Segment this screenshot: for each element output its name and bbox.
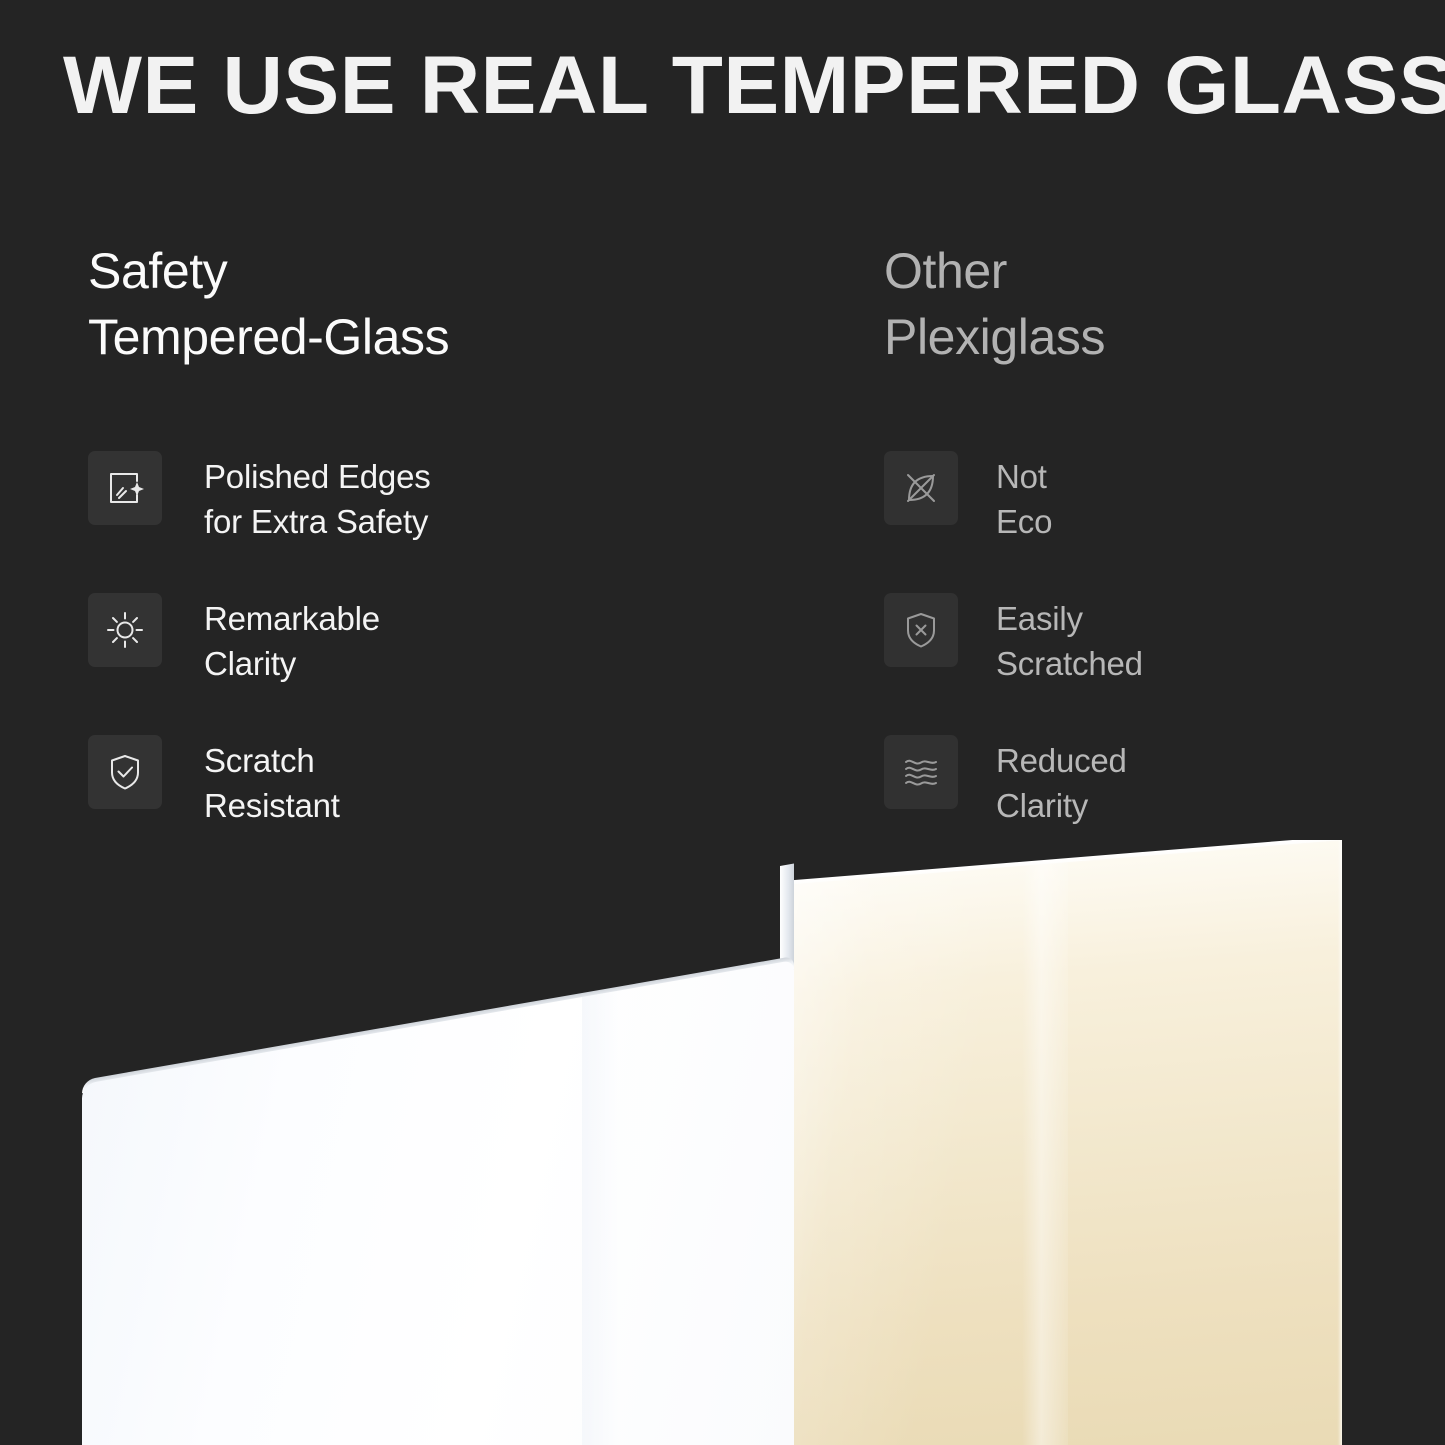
column-title: Safety Tempered-Glass <box>88 238 828 370</box>
plexiglass-panel <box>790 840 1342 1445</box>
feature-row: Remarkable Clarity <box>88 590 828 732</box>
feature-list: Not Eco Easily Scratched <box>884 448 1414 874</box>
feature-row: Polished Edges for Extra Safety <box>88 448 828 590</box>
shield-x-icon <box>884 593 958 667</box>
comparison-infographic: WE USE REAL TEMPERED GLASS Safety Temper… <box>0 0 1445 1445</box>
feature-label: Reduced Clarity <box>996 732 1127 828</box>
column-title: Other Plexiglass <box>884 238 1414 370</box>
feature-list: Polished Edges for Extra Safety Remarkab… <box>88 448 828 874</box>
page-title: WE USE REAL TEMPERED GLASS <box>63 40 1420 132</box>
feature-label: Not Eco <box>996 448 1052 544</box>
product-photo <box>0 840 1445 1445</box>
feature-label: Remarkable Clarity <box>204 590 380 686</box>
column-other-plexiglass: Other Plexiglass Not Eco <box>884 238 1414 370</box>
shield-check-icon <box>88 735 162 809</box>
leaf-crossed-out-icon <box>884 451 958 525</box>
column-safety-tempered-glass: Safety Tempered-Glass Polished Edges for… <box>88 238 828 370</box>
feature-row: Easily Scratched <box>884 590 1414 732</box>
feature-row: Not Eco <box>884 448 1414 590</box>
feature-label: Polished Edges for Extra Safety <box>204 448 431 544</box>
wavy-lines-icon <box>884 735 958 809</box>
feature-label: Easily Scratched <box>996 590 1143 686</box>
polished-glass-panel-icon <box>88 451 162 525</box>
tempered-glass-panel <box>82 960 794 1445</box>
sun-brightness-icon <box>88 593 162 667</box>
feature-label: Scratch Resistant <box>204 732 340 828</box>
